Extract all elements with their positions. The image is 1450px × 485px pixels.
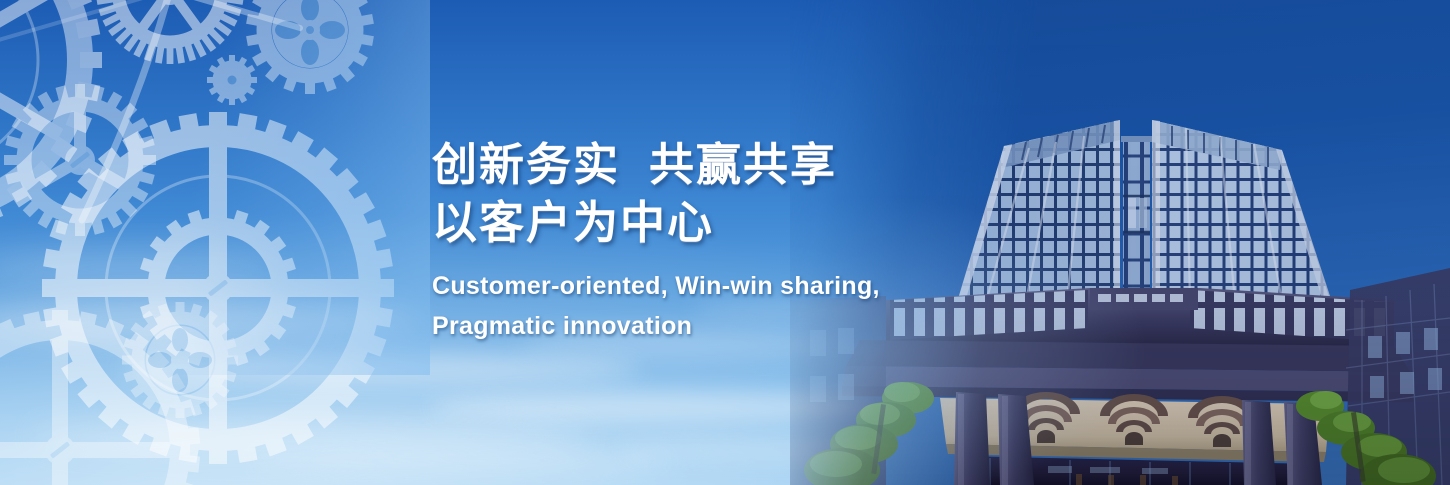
subheadline: Customer-oriented, Win-win sharing, Prag…	[432, 266, 1072, 346]
cloud-wisp	[120, 352, 640, 386]
cloud-wisp	[250, 448, 670, 474]
subheadline-line-2: Pragmatic innovation	[432, 306, 1072, 346]
corporate-banner: 创新务实 共赢共享 以客户为中心 Customer-oriented, Win-…	[0, 0, 1450, 485]
subheadline-line-1: Customer-oriented, Win-win sharing,	[432, 266, 1072, 306]
banner-copy: 创新务实 共赢共享 以客户为中心 Customer-oriented, Win-…	[432, 138, 1072, 346]
headline-line-2: 以客户为中心	[432, 196, 1072, 250]
headline-line-1: 创新务实 共赢共享	[432, 138, 1072, 192]
